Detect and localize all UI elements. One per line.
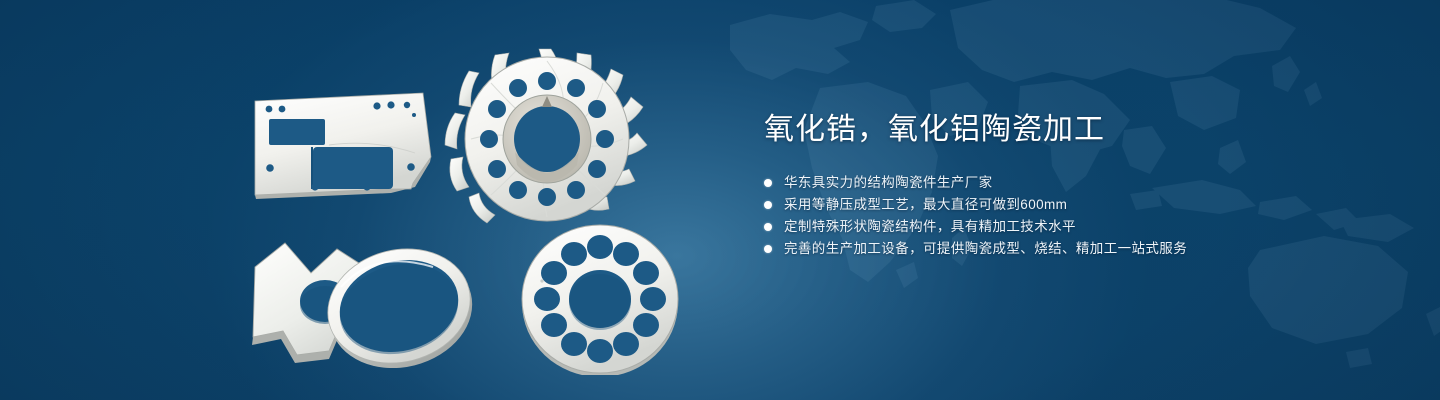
list-item-label: 定制特殊形状陶瓷结构件，具有精加工技术水平 [784, 216, 1076, 238]
list-item-label: 完善的生产加工设备，可提供陶瓷成型、烧结、精加工一站式服务 [784, 238, 1187, 260]
bullet-dot-icon [764, 179, 772, 187]
list-item: 完善的生产加工设备，可提供陶瓷成型、烧结、精加工一站式服务 [764, 238, 1384, 260]
list-item-label: 采用等静压成型工艺，最大直径可做到600mm [784, 194, 1067, 216]
hero-banner: 氧化锆，氧化铝陶瓷加工 华东具实力的结构陶瓷件生产厂家 采用等静压成型工艺，最大… [0, 0, 1440, 400]
bullet-dot-icon [764, 201, 772, 209]
list-item: 采用等静压成型工艺，最大直径可做到600mm [764, 194, 1384, 216]
bullet-dot-icon [764, 223, 772, 231]
ceramic-machined-plate [255, 93, 431, 199]
ceramic-impeller-disc [445, 49, 647, 223]
list-item-label: 华东具实力的结构陶瓷件生产厂家 [784, 172, 993, 194]
page-title: 氧化锆，氧化铝陶瓷加工 [764, 110, 1384, 150]
ceramic-perforated-disc [522, 225, 678, 375]
ceramic-products-image [225, 35, 725, 375]
list-item: 华东具实力的结构陶瓷件生产厂家 [764, 172, 1384, 194]
banner-copy: 氧化锆，氧化铝陶瓷加工 华东具实力的结构陶瓷件生产厂家 采用等静压成型工艺，最大… [764, 110, 1384, 260]
feature-list: 华东具实力的结构陶瓷件生产厂家 采用等静压成型工艺，最大直径可做到600mm 定… [764, 172, 1384, 260]
bullet-dot-icon [764, 245, 772, 253]
list-item: 定制特殊形状陶瓷结构件，具有精加工技术水平 [764, 216, 1384, 238]
